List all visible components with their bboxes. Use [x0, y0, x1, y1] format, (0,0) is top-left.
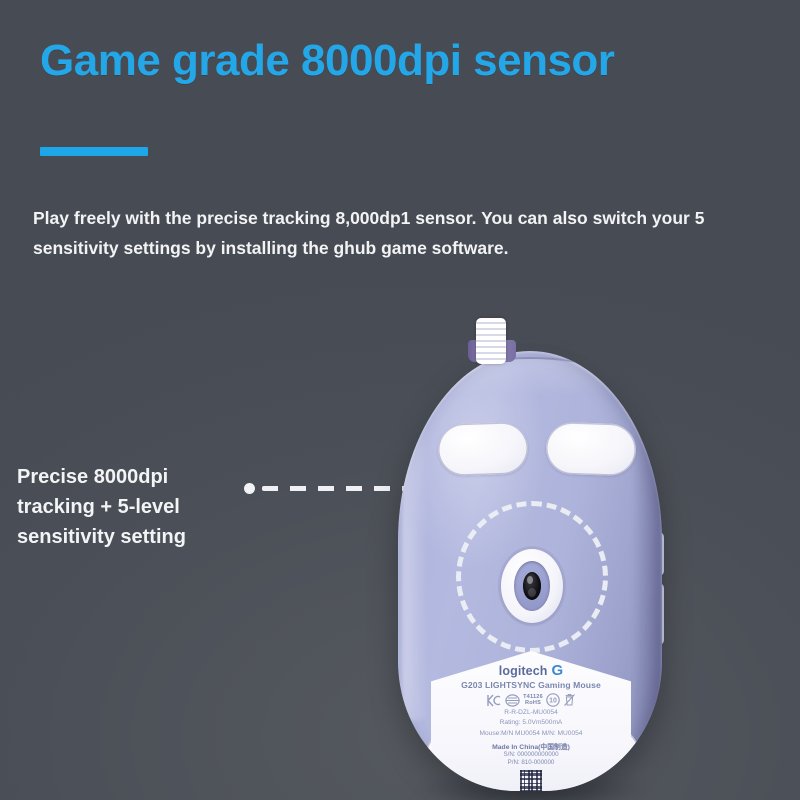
brand-wordmark: logitech: [499, 664, 548, 678]
callout-line-1: Precise 8000dpi: [17, 462, 257, 492]
regulatory-id: R-R-DZL-MU0054: [431, 709, 631, 717]
part-number: P/N: 810-000000: [431, 759, 631, 767]
svg-text:10: 10: [549, 698, 557, 705]
page-title: Game grade 8000dpi sensor: [40, 36, 614, 86]
made-in-text: Made In China(中国制造): [431, 741, 631, 751]
qr-code-icon: [520, 770, 542, 791]
shell-seam: [424, 357, 636, 397]
body-paragraph: Play freely with the precise tracking 8,…: [33, 203, 773, 263]
left-edge-highlight: [402, 391, 428, 721]
optical-sensor: [501, 549, 563, 623]
product-label: logitech G G203 LIGHTSYNC Gaming Mouse T…: [431, 651, 631, 791]
ccc-mark-icon: [505, 694, 520, 707]
power-rating: Rating: 5.0Vm500mA: [431, 719, 631, 727]
recycle-10-icon: 10: [546, 693, 560, 707]
logitech-logo: logitech G: [431, 663, 631, 678]
accent-divider: [40, 147, 148, 156]
usb-cable-icon: [476, 318, 506, 364]
kc-mark-icon: [486, 694, 502, 707]
lens-glint-secondary: [528, 588, 536, 597]
mouse-foot-top-right: [545, 421, 637, 476]
rohs-mark: T41126 RoHS: [523, 694, 543, 706]
sensor-lens-icon: [523, 572, 541, 600]
mouse-product-image: logitech G G203 LIGHTSYNC Gaming Mouse T…: [380, 318, 680, 800]
model-ids: Mouse:M/N MU0054 M/N: MU0054: [431, 730, 631, 738]
right-edge-shadow: [632, 381, 662, 761]
callout-text: Precise 8000dpi tracking + 5-level sensi…: [17, 462, 257, 552]
weee-bin-icon: [563, 693, 576, 707]
callout-line-2: tracking + 5-level: [17, 492, 257, 522]
mouse-foot-top-left: [437, 421, 529, 476]
serial-number: S/N: 000000000000: [431, 751, 631, 759]
product-feature-slide: Game grade 8000dpi sensor Play freely wi…: [0, 0, 800, 800]
lens-glint: [527, 576, 533, 584]
callout-line-3: sensitivity setting: [17, 522, 257, 552]
rohs-label: RoHS: [523, 700, 543, 706]
callout-leader-dot: [244, 483, 255, 494]
logitech-g-icon: G: [552, 663, 564, 678]
mouse-underside-shell: logitech G G203 LIGHTSYNC Gaming Mouse T…: [398, 351, 662, 791]
certification-marks: T41126 RoHS 10: [431, 693, 631, 707]
model-name: G203 LIGHTSYNC Gaming Mouse: [431, 680, 631, 690]
sensor-bezel: [514, 561, 550, 611]
